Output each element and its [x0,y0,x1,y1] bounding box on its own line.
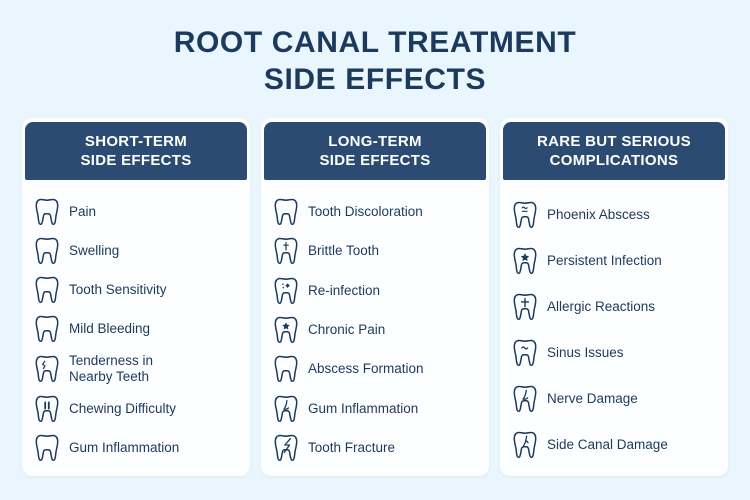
list-item-label: Brittle Tooth [308,243,379,259]
list-item[interactable]: Phoenix Abscess [512,192,718,238]
tooth-plain-icon [34,314,60,344]
tooth-plain-icon [273,197,299,227]
item-list-short-term: Pain Swelling [22,180,250,476]
list-item-label-line-1: Mild Bleeding [69,321,150,337]
tooth-plain-icon [273,354,299,384]
list-item[interactable]: Chronic Pain [273,310,479,349]
list-item[interactable]: Tenderness in Nearby Teeth [34,349,240,390]
tooth-star-icon [512,246,538,276]
list-item[interactable]: Swelling [34,231,240,270]
list-item[interactable]: Gum Inflammation [34,429,240,468]
list-item[interactable]: Mild Bleeding [34,309,240,348]
list-item-label-line-1: Chewing Difficulty [69,401,176,417]
tooth-crack-line-icon [273,236,299,266]
list-item-label: Mild Bleeding [69,321,150,337]
tooth-star-dots-icon [273,276,299,306]
list-item-label-line-1: Brittle Tooth [308,243,379,259]
list-item[interactable]: Re-infection [273,271,479,310]
list-item-label: Phoenix Abscess [547,207,650,223]
list-item[interactable]: Side Canal Damage [512,422,718,468]
card-header-long-term: LONG-TERM SIDE EFFECTS [264,122,486,180]
list-item-label-line-1: Pain [69,204,96,220]
tooth-cross-icon [512,292,538,322]
list-item[interactable]: Chewing Difficulty [34,390,240,429]
card-header-text: LONG-TERM SIDE EFFECTS [319,132,430,170]
list-item-label-line-1: Persistent Infection [547,253,662,269]
card-header-short-term: SHORT-TERM SIDE EFFECTS [25,122,247,180]
card-header-text: RARE BUT SERIOUS COMPLICATIONS [537,132,691,170]
item-list-rare-but-serious: Phoenix Abscess Persistent Infection [500,180,728,476]
infographic-root: ROOT CANAL TREATMENT SIDE EFFECTS SHORT-… [0,0,750,500]
list-item-label: Chronic Pain [308,322,385,338]
tooth-hook-icon [273,394,299,424]
list-item[interactable]: Persistent Infection [512,238,718,284]
page-title: ROOT CANAL TREATMENT SIDE EFFECTS [0,24,750,98]
card-header-text: SHORT-TERM SIDE EFFECTS [80,132,191,170]
card-short-term-side-effects: SHORT-TERM SIDE EFFECTS Pain [22,118,250,476]
list-item-label-line-1: Allergic Reactions [547,299,655,315]
list-item-label: Gum Inflammation [69,440,179,456]
tooth-plain-icon [34,433,60,463]
list-item[interactable]: Abscess Formation [273,350,479,389]
list-item-label-line-1: Abscess Formation [308,361,424,377]
list-item-label: Abscess Formation [308,361,424,377]
list-item-label: Tenderness in Nearby Teeth [69,353,153,385]
tooth-squiggle-icon [512,200,538,230]
tooth-hook-icon [512,384,538,414]
card-header-line-2: SIDE EFFECTS [319,151,430,170]
page-title-line-2: SIDE EFFECTS [0,61,750,98]
tooth-star-icon [273,315,299,345]
list-item-label-line-1: Tooth Fracture [308,440,395,456]
list-item-label: Gum Inflammation [308,401,418,417]
list-item[interactable]: Allergic Reactions [512,284,718,330]
list-item[interactable]: Gum Inflammation [273,389,479,428]
list-item-label-line-1: Gum Inflammation [308,401,418,417]
list-item-label: Re-infection [308,283,380,299]
card-header-line-1: SHORT-TERM [80,132,191,151]
list-item-label: Persistent Infection [547,253,662,269]
card-header-line-2: SIDE EFFECTS [80,151,191,170]
tooth-plain-icon [34,275,60,305]
list-item-label: Swelling [69,243,119,259]
list-item-label: Sinus Issues [547,345,624,361]
list-item-label-line-1: Nerve Damage [547,391,638,407]
list-item-label-line-1: Re-infection [308,283,380,299]
list-item-label: Tooth Fracture [308,440,395,456]
card-header-line-1: RARE BUT SERIOUS [537,132,691,151]
card-header-rare-but-serious: RARE BUT SERIOUS COMPLICATIONS [503,122,725,180]
list-item-label-line-1: Side Canal Damage [547,437,668,453]
item-list-long-term: Tooth Discoloration Brittle Tooth [261,180,489,476]
tooth-crack-icon [34,354,60,384]
list-item[interactable]: Sinus Issues [512,330,718,376]
list-item-label: Tooth Sensitivity [69,282,167,298]
card-long-term-side-effects: LONG-TERM SIDE EFFECTS Tooth Discolorati… [261,118,489,476]
card-rare-but-serious-complications: RARE BUT SERIOUS COMPLICATIONS Phoenix A… [500,118,728,476]
list-item[interactable]: Tooth Sensitivity [34,270,240,309]
list-item-label-line-1: Tooth Discoloration [308,204,423,220]
card-header-line-1: LONG-TERM [319,132,430,151]
list-item[interactable]: Brittle Tooth [273,231,479,270]
page-title-line-1: ROOT CANAL TREATMENT [0,24,750,61]
card-header-line-2: COMPLICATIONS [537,151,691,170]
list-item[interactable]: Tooth Discoloration [273,192,479,231]
list-item-label-line-1: Tooth Sensitivity [69,282,167,298]
list-item[interactable]: Nerve Damage [512,376,718,422]
list-item-label: Tooth Discoloration [308,204,423,220]
list-item-label-line-1: Chronic Pain [308,322,385,338]
list-item[interactable]: Pain [34,192,240,231]
tooth-branch-icon [512,430,538,460]
list-item-label: Allergic Reactions [547,299,655,315]
tooth-wave-icon [512,338,538,368]
list-item-label-line-1: Tenderness in [69,353,153,369]
list-item-label: Pain [69,204,96,220]
list-item-label: Chewing Difficulty [69,401,176,417]
columns-container: SHORT-TERM SIDE EFFECTS Pain [22,118,728,476]
tooth-fracture-icon [273,433,299,463]
tooth-plain-icon [34,236,60,266]
list-item-label: Side Canal Damage [547,437,668,453]
list-item[interactable]: Tooth Fracture [273,429,479,468]
list-item-label-line-1: Phoenix Abscess [547,207,650,223]
list-item-label-line-1: Gum Inflammation [69,440,179,456]
tooth-two-bars-icon [34,394,60,424]
tooth-plain-icon [34,197,60,227]
list-item-label: Nerve Damage [547,391,638,407]
list-item-label-line-1: Swelling [69,243,119,259]
list-item-label-line-2: Nearby Teeth [69,369,153,385]
list-item-label-line-1: Sinus Issues [547,345,624,361]
